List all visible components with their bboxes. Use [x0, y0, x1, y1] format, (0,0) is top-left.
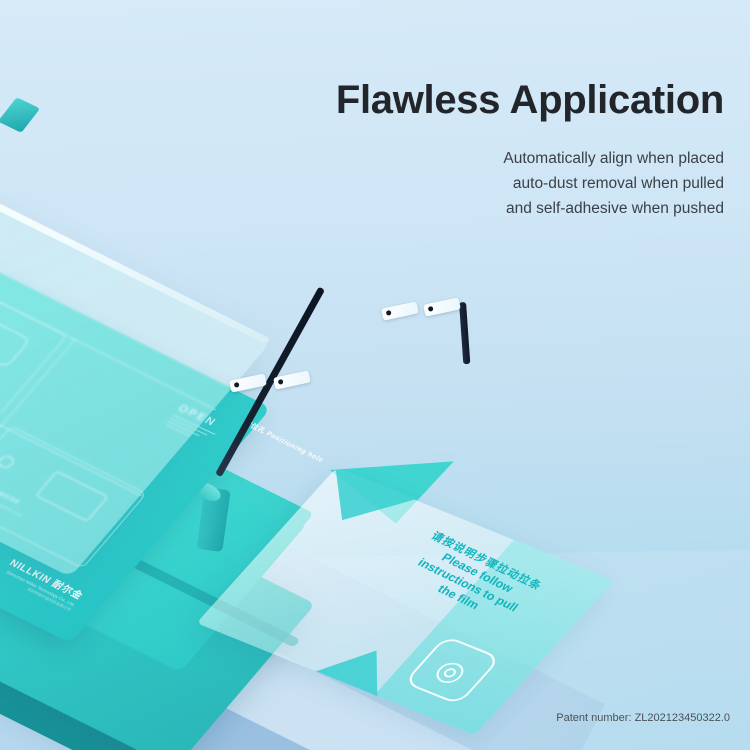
patent-number: Patent number: ZL202123450322.0	[556, 712, 730, 724]
glass-pull-tab	[381, 301, 419, 320]
subtitle-block: Automatically align when placed auto-dus…	[503, 146, 724, 221]
positioning-hole-label: 定位孔 Positioning hole	[241, 418, 326, 465]
product-hero-scene: OPEN 请清洁屏幕，确保无尘无油污 Clean the screen, mak…	[0, 0, 750, 750]
glass-corner-tab	[0, 97, 40, 133]
subtitle-line-2: auto-dust removal when pulled	[503, 171, 724, 196]
glass-pull-tab	[423, 297, 461, 316]
subtitle-line-1: Automatically align when placed	[503, 146, 724, 171]
page-title: Flawless Application	[336, 78, 724, 123]
glass-dark-edge-right	[459, 302, 470, 364]
subtitle-line-3: and self-adhesive when pushed	[503, 196, 724, 221]
